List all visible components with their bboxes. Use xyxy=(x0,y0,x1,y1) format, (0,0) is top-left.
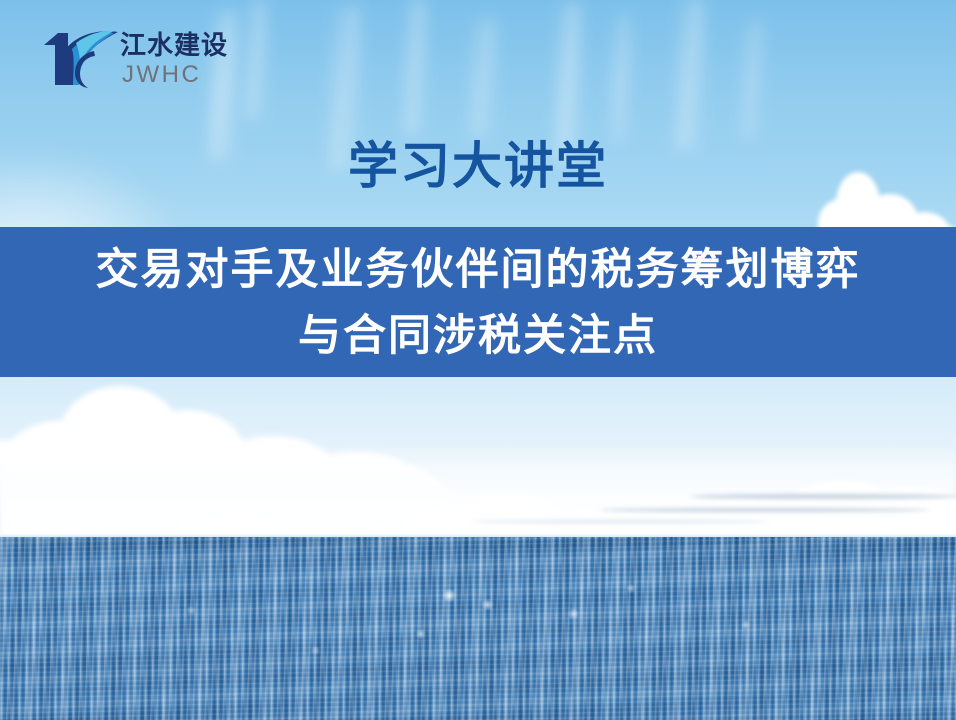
jwhc-wave-mark-icon xyxy=(42,29,120,89)
logo-company-name-cn: 江水建设 xyxy=(120,30,228,60)
logo-company-name-en: JWHC xyxy=(122,61,201,89)
presentation-slide: 江水建设 JWHC 学习大讲堂 交易对手及业务伙伴间的税务筹划博弈 与合同涉税关… xyxy=(0,0,956,720)
horizon-cirrus-streak-1 xyxy=(690,494,956,499)
ocean-water xyxy=(0,537,956,720)
horizon-cirrus-streak-2 xyxy=(600,508,930,512)
company-logo: 江水建设 JWHC xyxy=(42,27,252,95)
subtitle-band: 交易对手及业务伙伴间的税务筹划博弈 与合同涉税关注点 xyxy=(0,227,956,377)
main-title: 学习大讲堂 xyxy=(0,135,956,197)
subtitle-line-1: 交易对手及业务伙伴间的税务筹划博弈 xyxy=(0,237,956,303)
subtitle-line-2: 与合同涉税关注点 xyxy=(0,303,956,369)
horizon-cirrus-streak-3 xyxy=(470,520,770,523)
ocean-sun-glitter xyxy=(0,537,956,720)
